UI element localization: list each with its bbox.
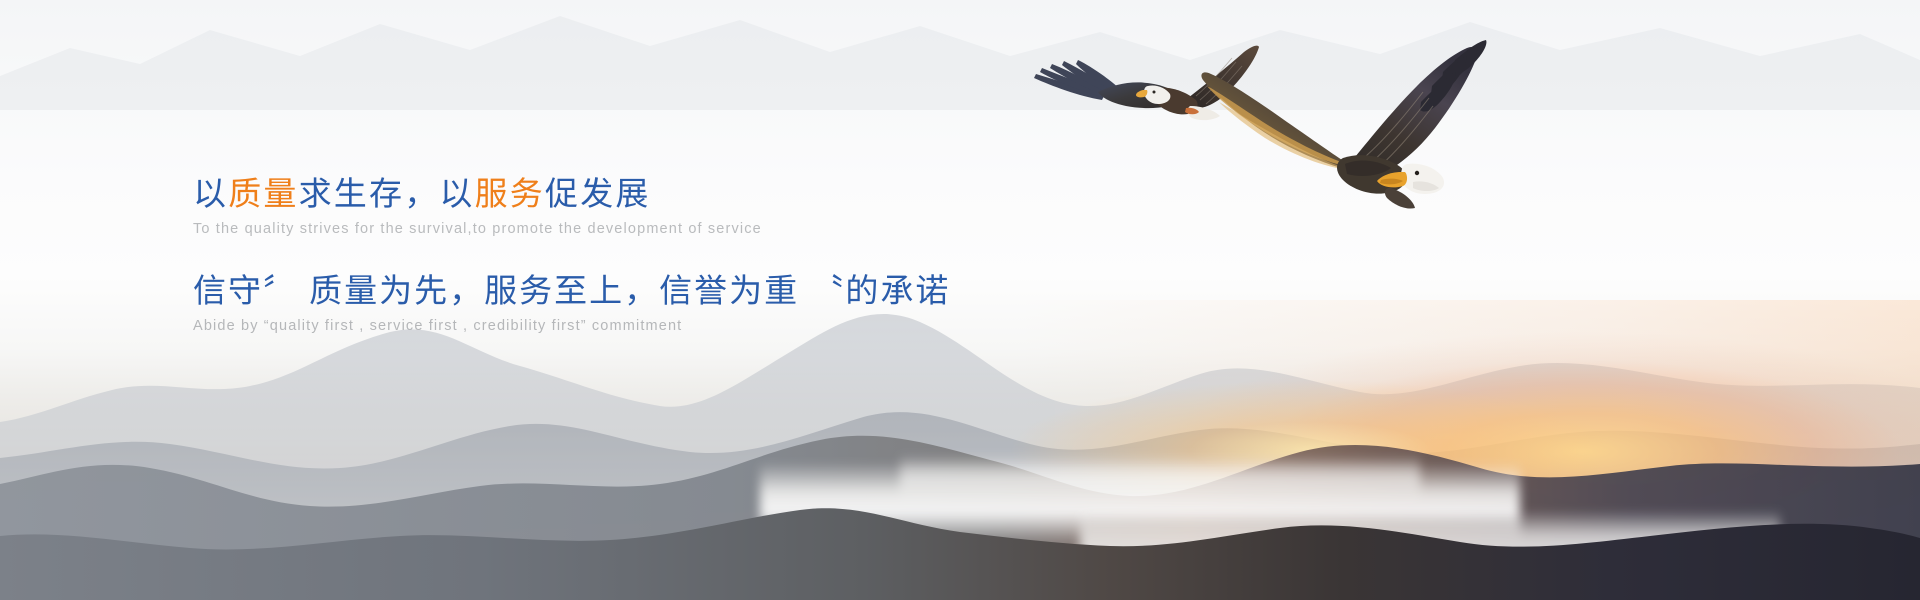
- slogan-2: 信守〞 质量为先，服务至上，信誉为重 〝的承诺 Abide by “qualit…: [193, 269, 1193, 335]
- mountain-layer-front: [0, 470, 1920, 600]
- slogan-1-seg-3-highlight: 服务: [475, 175, 545, 212]
- slogan-1-headline: 以质量求生存，以服务促发展: [193, 172, 1193, 216]
- hero-banner: 以质量求生存，以服务促发展 To the quality strives for…: [0, 0, 1920, 600]
- slogan-2-subtitle: Abide by “quality first , service first …: [193, 318, 1193, 334]
- slogan-block: 以质量求生存，以服务促发展 To the quality strives for…: [193, 172, 1193, 334]
- slogan-2-headline: 信守〞 质量为先，服务至上，信誉为重 〝的承诺: [193, 269, 1193, 313]
- slogan-1-subtitle: To the quality strives for the survival,…: [193, 221, 1193, 237]
- slogan-1-seg-1-highlight: 质量: [228, 175, 298, 212]
- slogan-1-seg-2: 求生存，以: [299, 175, 475, 212]
- slogan-1-seg-0: 以: [193, 175, 228, 212]
- slogan-1-seg-4: 促发展: [545, 175, 651, 212]
- slogan-1: 以质量求生存，以服务促发展 To the quality strives for…: [193, 172, 1193, 237]
- distant-ridge: [0, 0, 1920, 110]
